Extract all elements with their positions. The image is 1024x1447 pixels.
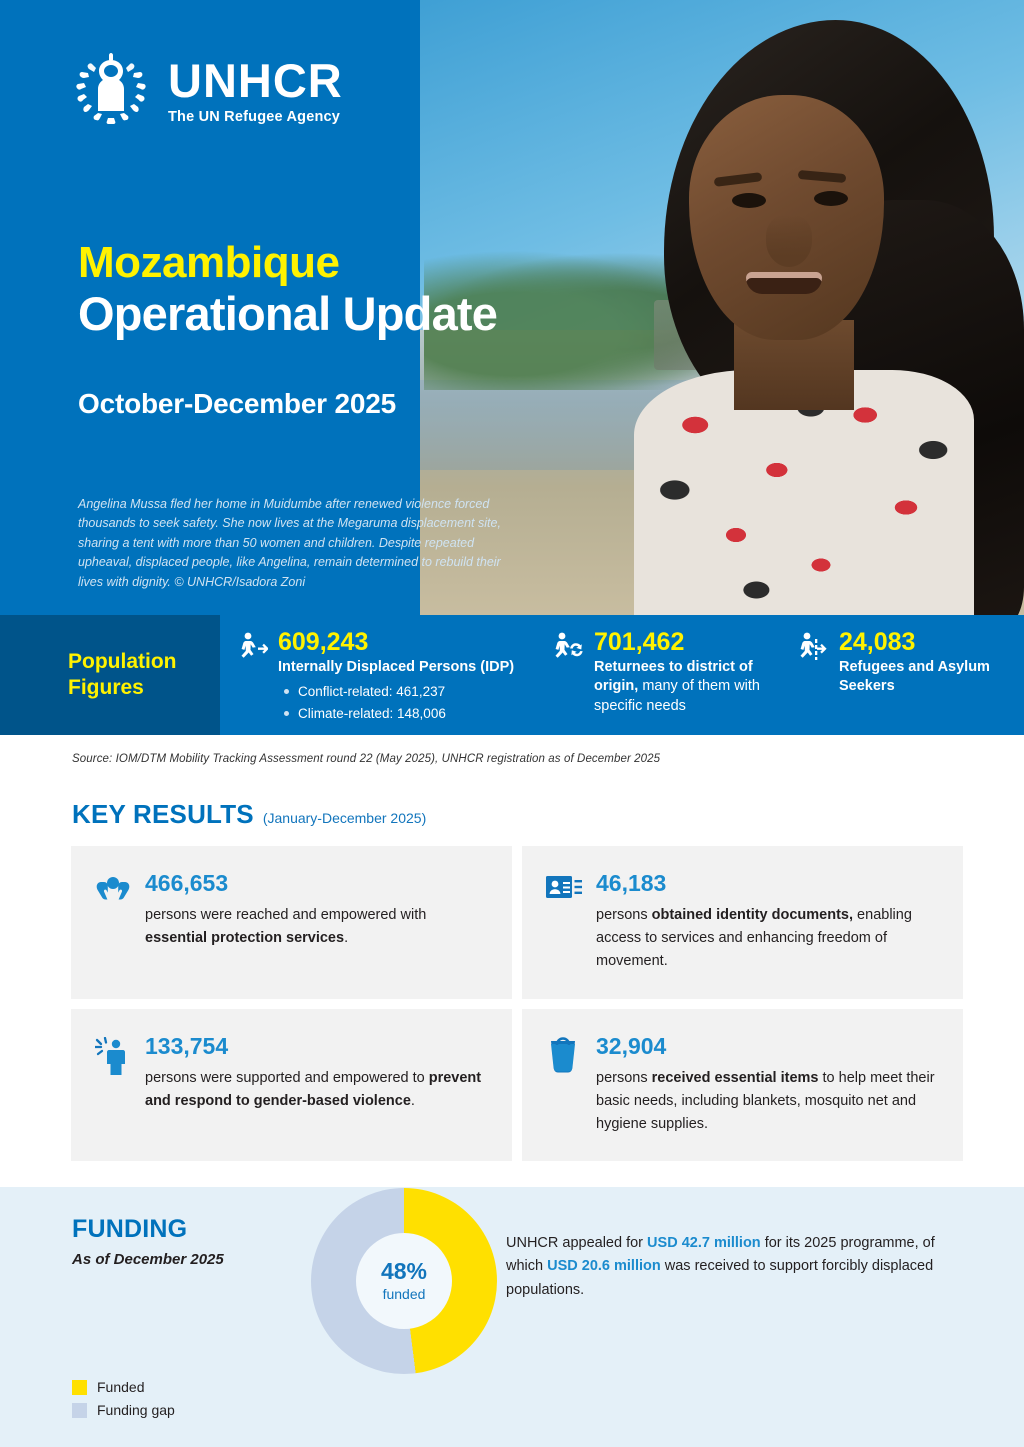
key-results-title: KEY RESULTS	[72, 799, 254, 830]
population-bullet: Conflict-related: 461,237	[278, 681, 514, 703]
population-figures-label: Population Figures	[0, 615, 220, 735]
funding-donut-chart: 48% funded	[311, 1188, 497, 1374]
funded-percent: 48%	[381, 1260, 427, 1283]
key-results-header: KEY RESULTS (January-December 2025)	[0, 765, 1024, 846]
key-result-text: persons were supported and empowered to …	[145, 1067, 486, 1113]
population-description: Internally Displaced Persons (IDP)	[278, 658, 514, 677]
funding-legend: Funded Funding gap	[72, 1379, 175, 1425]
donut-ring: 48% funded	[311, 1188, 497, 1374]
person-walking-arrow-icon	[234, 629, 268, 735]
photo-eye-right	[814, 191, 848, 206]
population-source-note: Source: IOM/DTM Mobility Tracking Assess…	[0, 735, 1024, 765]
photo-caption: Angelina Mussa fled her home in Muidumbe…	[78, 495, 528, 592]
protection-hands-icon	[95, 872, 131, 973]
logo-name: UNHCR	[168, 57, 343, 104]
key-result-number: 133,754	[145, 1035, 486, 1058]
funding-title: FUNDING	[72, 1215, 224, 1244]
key-result-text: persons were reached and empowered with …	[145, 904, 486, 950]
population-desc-bold: Internally Displaced Persons (IDP)	[278, 659, 514, 675]
donut-center: 48% funded	[356, 1233, 452, 1329]
key-result-number: 46,183	[596, 872, 937, 895]
photo-eye-left	[732, 193, 766, 208]
person-returning-arrow-icon	[550, 629, 584, 735]
logo-tagline: The UN Refugee Agency	[168, 109, 343, 125]
key-results-period: (January-December 2025)	[263, 810, 426, 826]
page-title: Operational Update	[78, 288, 497, 340]
id-card-icon	[546, 872, 582, 973]
population-description: Refugees and Asylum Seekers	[839, 658, 995, 696]
legend-label-funding-gap: Funding gap	[97, 1402, 175, 1418]
key-result-card-identity: 46,183 persons obtained identity documen…	[522, 846, 963, 999]
population-number: 609,243	[278, 629, 514, 655]
population-description: Returnees to district of origin, many of…	[594, 658, 795, 715]
person-refugee-arrow-icon	[795, 629, 829, 735]
bucket-icon	[546, 1035, 582, 1136]
key-result-text: persons received essential items to help…	[596, 1067, 937, 1136]
hero-header: UNHCR The UN Refugee Agency Mozambique O…	[0, 0, 1024, 615]
population-number: 24,083	[839, 629, 995, 655]
funding-subtitle: As of December 2025	[72, 1251, 224, 1268]
population-item-returnees: 701,462 Returnees to district of origin,…	[550, 629, 795, 735]
key-result-number: 32,904	[596, 1035, 937, 1058]
unhcr-logo-icon	[68, 50, 154, 131]
photo-person-angelina	[554, 0, 1024, 615]
country-title: Mozambique	[78, 240, 497, 286]
funded-label: funded	[383, 1286, 426, 1302]
gbv-person-icon	[95, 1035, 131, 1136]
legend-swatch-funding-gap	[72, 1403, 87, 1418]
population-bullets: Conflict-related: 461,237 Climate-relate…	[278, 681, 514, 724]
legend-item-funded: Funded	[72, 1379, 175, 1395]
population-bullet: Climate-related: 148,006	[278, 703, 514, 725]
title-block: Mozambique Operational Update October-De…	[78, 240, 497, 420]
report-period: October-December 2025	[78, 388, 497, 420]
population-desc-bold: Refugees and Asylum Seekers	[839, 659, 990, 694]
funding-header: FUNDING As of December 2025	[72, 1215, 224, 1268]
photo-nose	[766, 215, 812, 267]
population-item-refugees: 24,083 Refugees and Asylum Seekers	[795, 629, 995, 735]
unhcr-logo: UNHCR The UN Refugee Agency	[68, 50, 343, 131]
key-result-card-gbv: 133,754 persons were supported and empow…	[71, 1009, 512, 1162]
funding-section: FUNDING As of December 2025 48% funded U…	[0, 1187, 1024, 1447]
photo-mouth	[746, 272, 822, 294]
logo-text-block: UNHCR The UN Refugee Agency	[168, 57, 343, 125]
key-result-text: persons obtained identity documents, ena…	[596, 904, 937, 973]
population-figures-band: Population Figures 609,243 Internally Di…	[0, 615, 1024, 735]
key-result-card-essential-items: 32,904 persons received essential items …	[522, 1009, 963, 1162]
population-item-idp: 609,243 Internally Displaced Persons (ID…	[220, 629, 550, 735]
legend-item-funding-gap: Funding gap	[72, 1402, 175, 1418]
key-result-card-protection: 466,653 persons were reached and empower…	[71, 846, 512, 999]
population-label-line1: Population	[68, 649, 220, 675]
population-items: 609,243 Internally Displaced Persons (ID…	[220, 615, 1024, 735]
population-label-line2: Figures	[68, 675, 220, 701]
funding-description: UNHCR appealed for USD 42.7 million for …	[506, 1232, 936, 1302]
key-results-cards: 466,653 persons were reached and empower…	[0, 846, 1024, 1161]
population-number: 701,462	[594, 629, 795, 655]
legend-swatch-funded	[72, 1380, 87, 1395]
key-result-number: 466,653	[145, 872, 486, 895]
legend-label-funded: Funded	[97, 1379, 144, 1395]
